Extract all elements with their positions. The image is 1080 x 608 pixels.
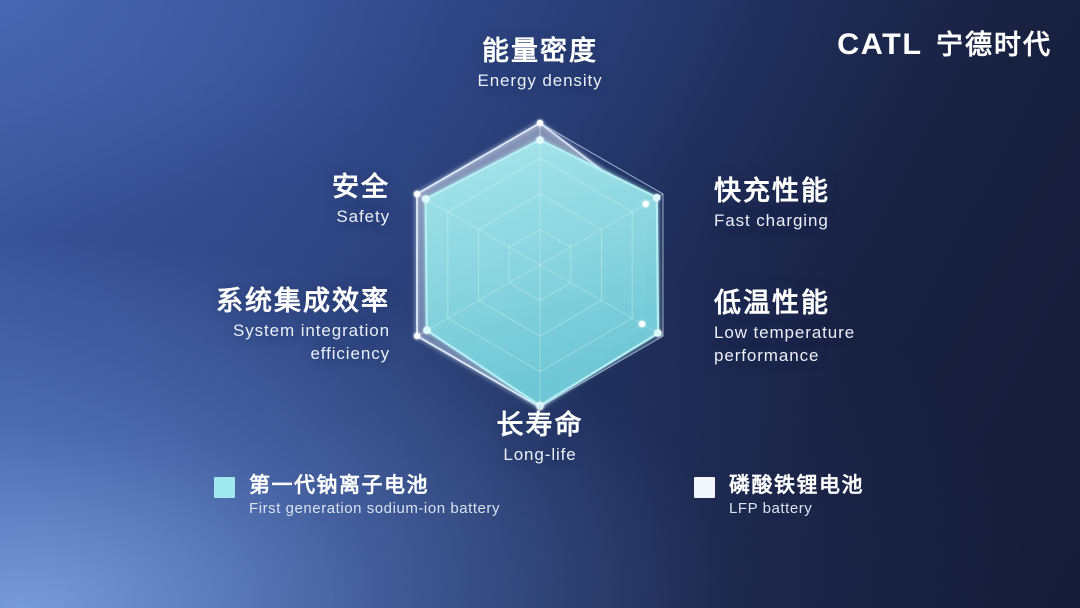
- axis-label-safety-en: Safety: [332, 206, 390, 229]
- axis-label-low-temperature: 低温性能 Low temperature performance: [714, 288, 855, 367]
- axis-label-long-life: 长寿命 Long-life: [497, 410, 584, 467]
- axis-label-low-temperature-en-line2: performance: [714, 345, 855, 368]
- axis-label-long-life-en: Long-life: [497, 444, 584, 467]
- series-sodium-ion-battery: [426, 140, 658, 406]
- axis-label-energy-density: 能量密度 Energy density: [477, 36, 602, 93]
- axis-label-fast-charging-en: Fast charging: [714, 210, 830, 233]
- legend-label-lfp-en: LFP battery: [729, 498, 864, 521]
- legend-swatch-lfp: [694, 477, 715, 498]
- axis-label-long-life-cn: 长寿命: [497, 410, 584, 442]
- legend-swatch-sodium-ion: [214, 477, 235, 498]
- axis-label-system-integration-en-line2: efficiency: [216, 343, 390, 366]
- legend-item-sodium-ion-battery[interactable]: 第一代钠离子电池 First generation sodium-ion bat…: [214, 472, 500, 521]
- axis-label-fast-charging: 快充性能 Fast charging: [714, 176, 830, 233]
- legend-label-sodium-ion-en: First generation sodium-ion battery: [249, 498, 500, 521]
- axis-label-low-temperature-cn: 低温性能: [714, 288, 855, 320]
- axis-label-energy-density-en: Energy density: [477, 70, 602, 93]
- legend-item-lfp-battery[interactable]: 磷酸铁锂电池 LFP battery: [694, 472, 864, 521]
- legend-label-lfp-cn: 磷酸铁锂电池: [729, 472, 864, 498]
- legend-text-lfp: 磷酸铁锂电池 LFP battery: [729, 472, 864, 521]
- legend-label-sodium-ion-cn: 第一代钠离子电池: [249, 472, 500, 498]
- axis-label-system-integration: 系统集成效率 System integration efficiency: [216, 286, 390, 365]
- axis-label-safety: 安全 Safety: [332, 172, 390, 229]
- axis-label-system-integration-cn: 系统集成效率: [216, 286, 390, 318]
- axis-label-fast-charging-cn: 快充性能: [714, 176, 830, 208]
- axis-label-safety-cn: 安全: [332, 172, 390, 204]
- axis-label-energy-density-cn: 能量密度: [477, 36, 602, 68]
- axis-label-low-temperature-en-line1: Low temperature: [714, 322, 855, 345]
- legend-text-sodium-ion: 第一代钠离子电池 First generation sodium-ion bat…: [249, 472, 500, 521]
- slide-canvas: CATL 宁德时代: [0, 0, 1080, 608]
- axis-label-system-integration-en-line1: System integration: [216, 320, 390, 343]
